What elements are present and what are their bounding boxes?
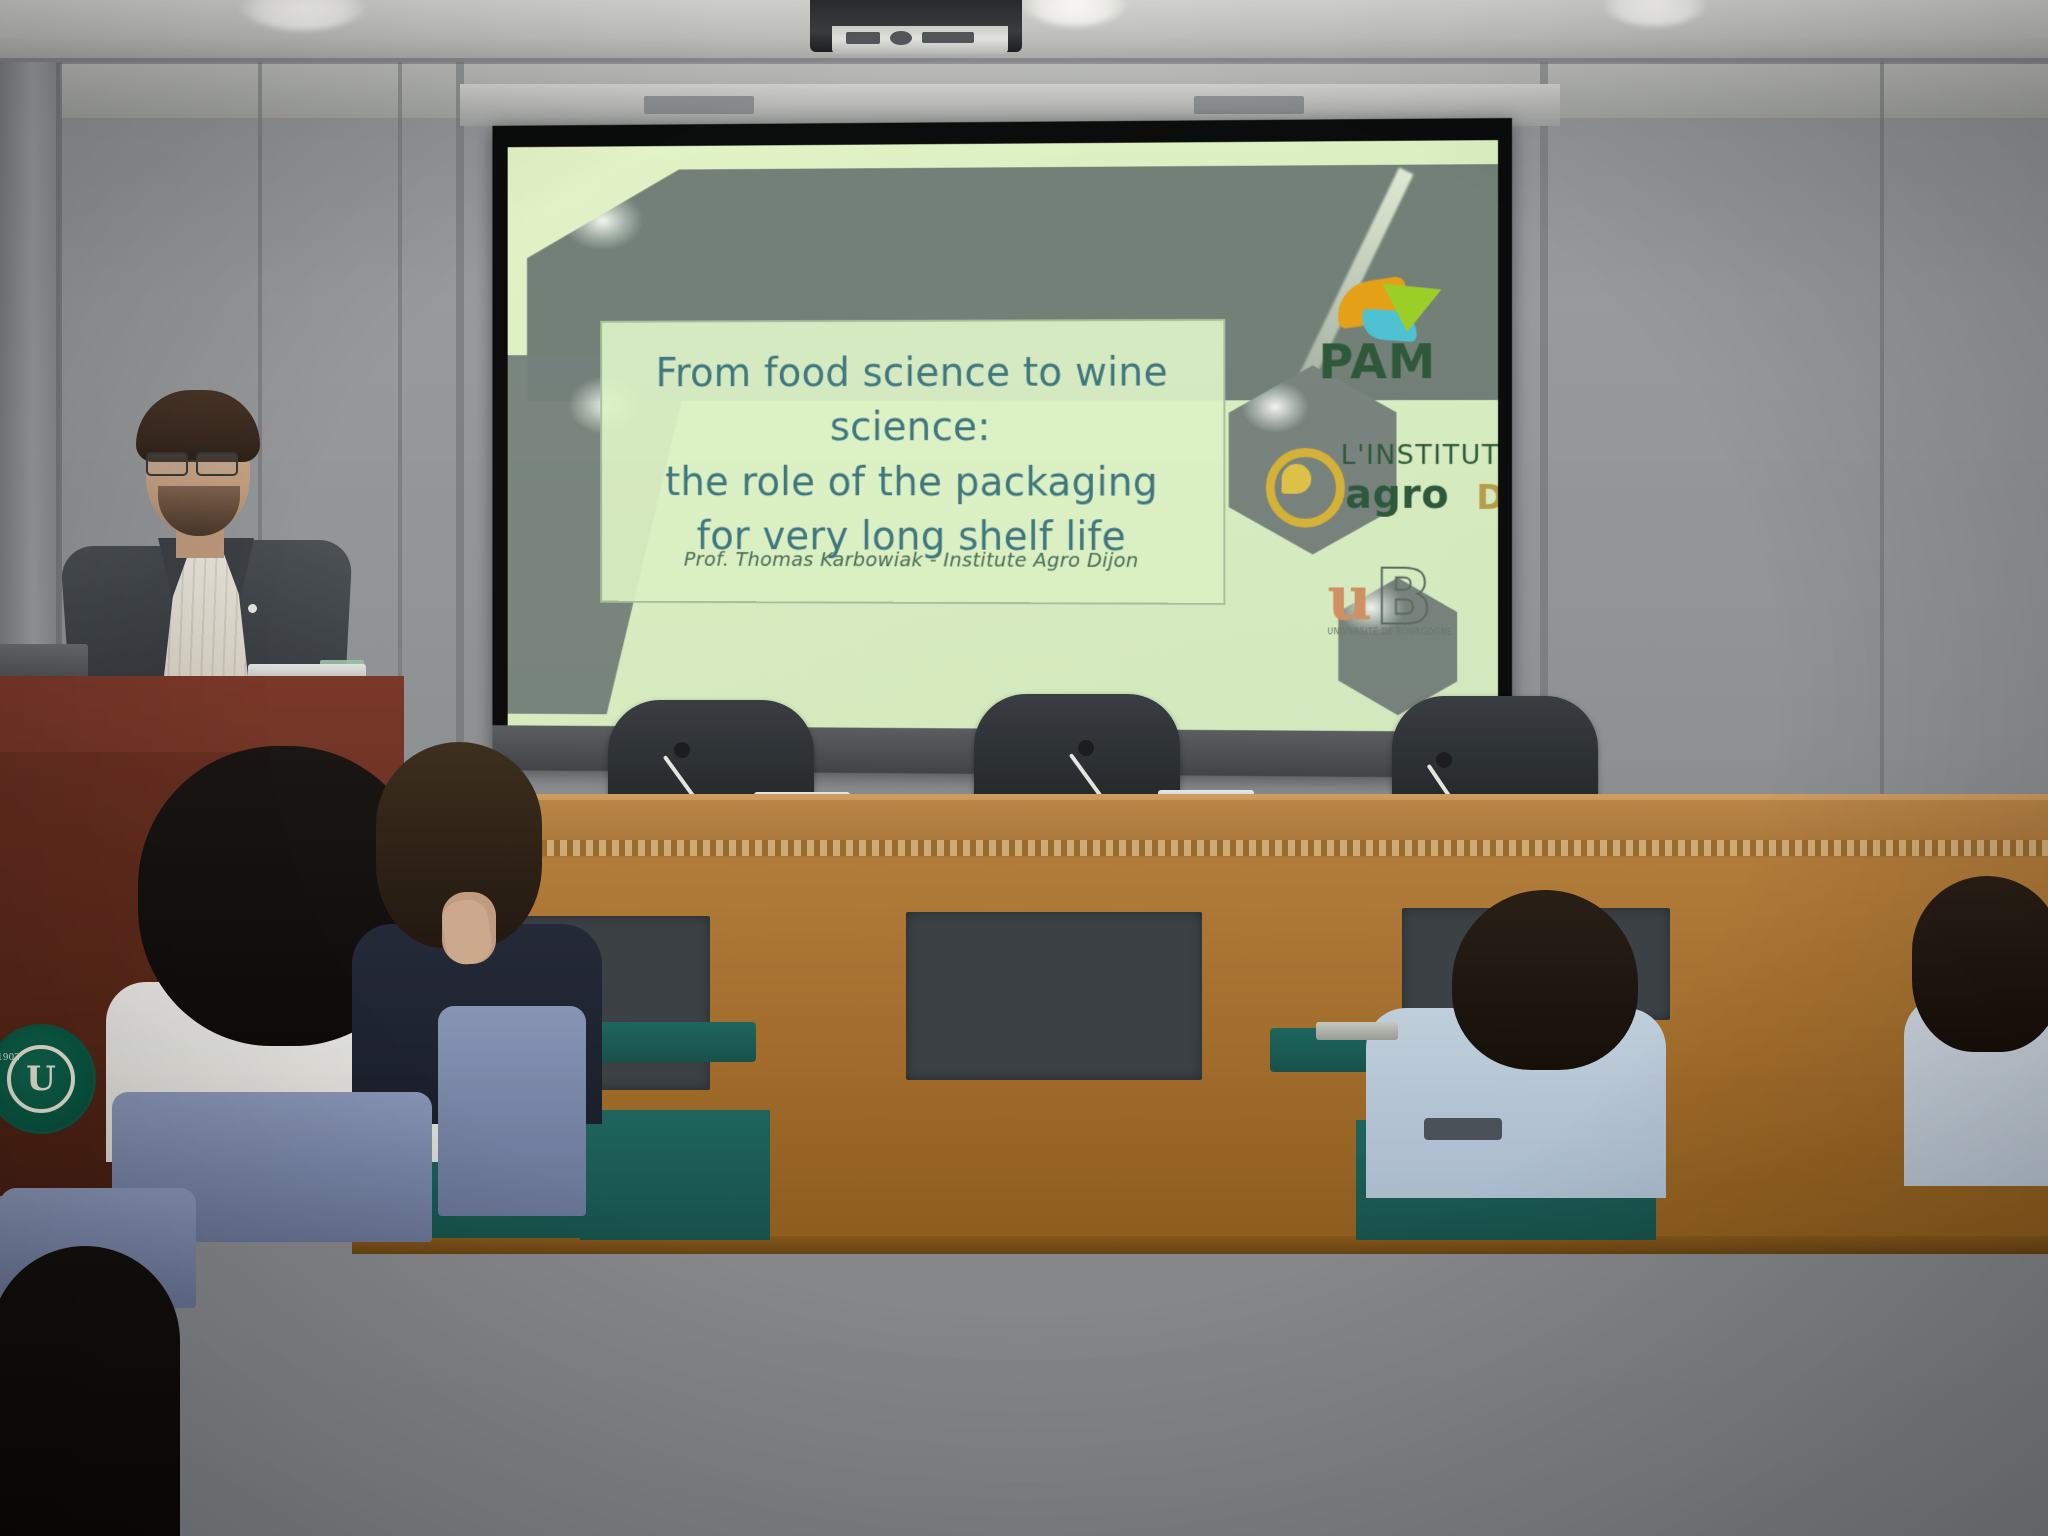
ceiling-seam — [0, 58, 2048, 64]
dais-mic-head-3 — [1436, 752, 1452, 768]
institut-agro-dijon-logo: L'INSTITUT agro Dijon — [1261, 432, 1483, 528]
lapel-microphone-icon — [248, 604, 257, 613]
agro-name-text: agro — [1345, 472, 1449, 518]
dais-mic-head-2 — [1078, 740, 1094, 756]
screen-surface: From food science to wine science: the r… — [508, 140, 1498, 732]
slide-byline: Prof. Thomas Karbowiak - Institute Agro … — [602, 546, 1223, 571]
ub-letter-b: B — [1375, 562, 1433, 634]
pam-mark-icon — [1336, 276, 1445, 342]
wall-seam-3 — [456, 62, 464, 842]
soffit-vent-1 — [644, 96, 754, 114]
foreground-head-left — [0, 1246, 180, 1536]
ub-subtitle: UNIVERSITÉ DE BOURGOGNE — [1327, 627, 1452, 637]
speaker-beard — [158, 486, 240, 536]
audience-person-4-hair — [1912, 876, 2048, 1052]
slide-title-line-2: the role of the packaging — [602, 455, 1223, 510]
agro-seed-icon — [1281, 464, 1311, 494]
pam-logo: PAM — [1261, 276, 1483, 406]
dais-panel-2 — [906, 912, 1202, 1080]
audience-person-3-hair — [1452, 890, 1638, 1070]
lecture-hall-photo: From food science to wine science: the r… — [0, 0, 2048, 1536]
slide-title-card: From food science to wine science: the r… — [600, 318, 1225, 604]
slide-logo-column: PAM L'INSTITUT agro Dijon u B UNIVERSITÉ… — [1261, 276, 1483, 646]
table-tray-item — [1316, 1022, 1398, 1040]
dais-chair-3 — [1392, 696, 1598, 804]
ub-letter-u: u — [1327, 570, 1372, 629]
dais-molding — [352, 840, 2048, 856]
projector-icon — [832, 26, 1008, 54]
audience-table-5 — [580, 1110, 770, 1240]
wall-seam-5 — [1880, 62, 1884, 822]
soffit-vent-2 — [1194, 96, 1304, 114]
audience-person-3 — [1366, 890, 1666, 1190]
agro-city-text: Dijon — [1476, 478, 1498, 518]
audience-seatback-2 — [438, 1006, 586, 1216]
eyeglasses-icon — [146, 452, 250, 472]
pam-logo-text: PAM — [1319, 334, 1437, 390]
agro-institut-text: L'INSTITUT — [1341, 440, 1498, 471]
ub-logo: u B UNIVERSITÉ DE BOURGOGNE — [1261, 561, 1483, 646]
slide-title: From food science to wine science: the r… — [602, 346, 1223, 565]
seal-year: 1902 — [0, 1053, 20, 1063]
audience-person-4 — [1904, 876, 2048, 1176]
dais-mic-head-1 — [674, 742, 690, 758]
dais-chair-2 — [974, 694, 1180, 802]
table-dark-item — [1424, 1118, 1502, 1140]
pam-leaf-green-icon — [1378, 284, 1442, 336]
projection-screen: From food science to wine science: the r… — [492, 118, 1512, 778]
presentation-slide: From food science to wine science: the r… — [508, 140, 1498, 732]
slide-title-line-1: From food science to wine science: — [602, 346, 1223, 456]
